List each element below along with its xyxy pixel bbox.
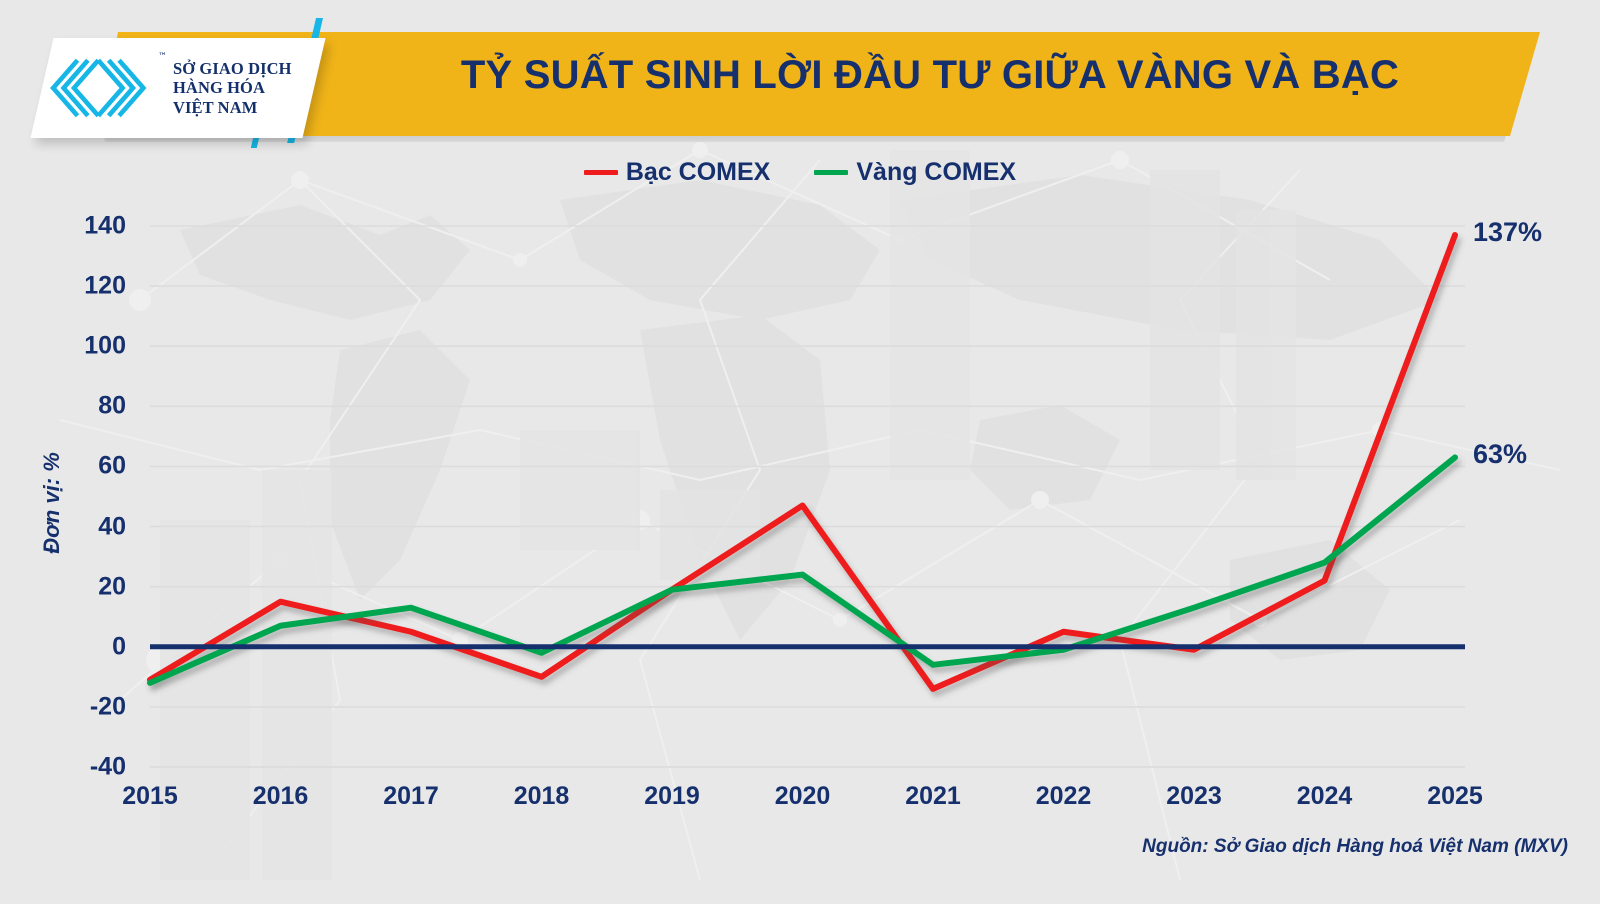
source-note: Nguồn: Sở Giao dịch Hàng hoá Việt Nam (M… — [1142, 836, 1568, 858]
x-axis-tick-2025: 2025 — [1395, 782, 1515, 811]
y-axis-tick--20: -20 — [30, 692, 126, 721]
y-axis-tick-0: 0 — [30, 632, 126, 661]
y-axis-tick-100: 100 — [30, 332, 126, 361]
y-axis-tick-120: 120 — [30, 272, 126, 301]
x-axis-tick-2024: 2024 — [1265, 782, 1385, 811]
x-axis-tick-2018: 2018 — [482, 782, 602, 811]
y-axis-tick-80: 80 — [30, 392, 126, 421]
y-axis-tick--40: -40 — [30, 753, 126, 782]
x-axis-tick-2015: 2015 — [90, 782, 210, 811]
x-axis-tick-2020: 2020 — [743, 782, 863, 811]
chart-canvas — [0, 0, 1600, 900]
x-axis-tick-2021: 2021 — [873, 782, 993, 811]
x-axis-tick-2016: 2016 — [221, 782, 341, 811]
x-axis-tick-2019: 2019 — [612, 782, 732, 811]
end-label-bạc: 137% — [1473, 217, 1542, 248]
y-axis-label: Đơn vị: % — [39, 423, 65, 583]
y-axis-tick-140: 140 — [30, 212, 126, 241]
x-axis-tick-2022: 2022 — [1004, 782, 1124, 811]
x-axis-tick-2023: 2023 — [1134, 782, 1254, 811]
end-label-vàng: 63% — [1473, 439, 1527, 470]
infographic-canvas: ™ SỞ GIAO DỊCH HÀNG HÓA VIỆT NAM TỶ SUẤT… — [0, 0, 1600, 900]
chart-plot-area: 140120100806040200-20-40 201520162017201… — [0, 0, 1600, 900]
x-axis-tick-2017: 2017 — [351, 782, 471, 811]
